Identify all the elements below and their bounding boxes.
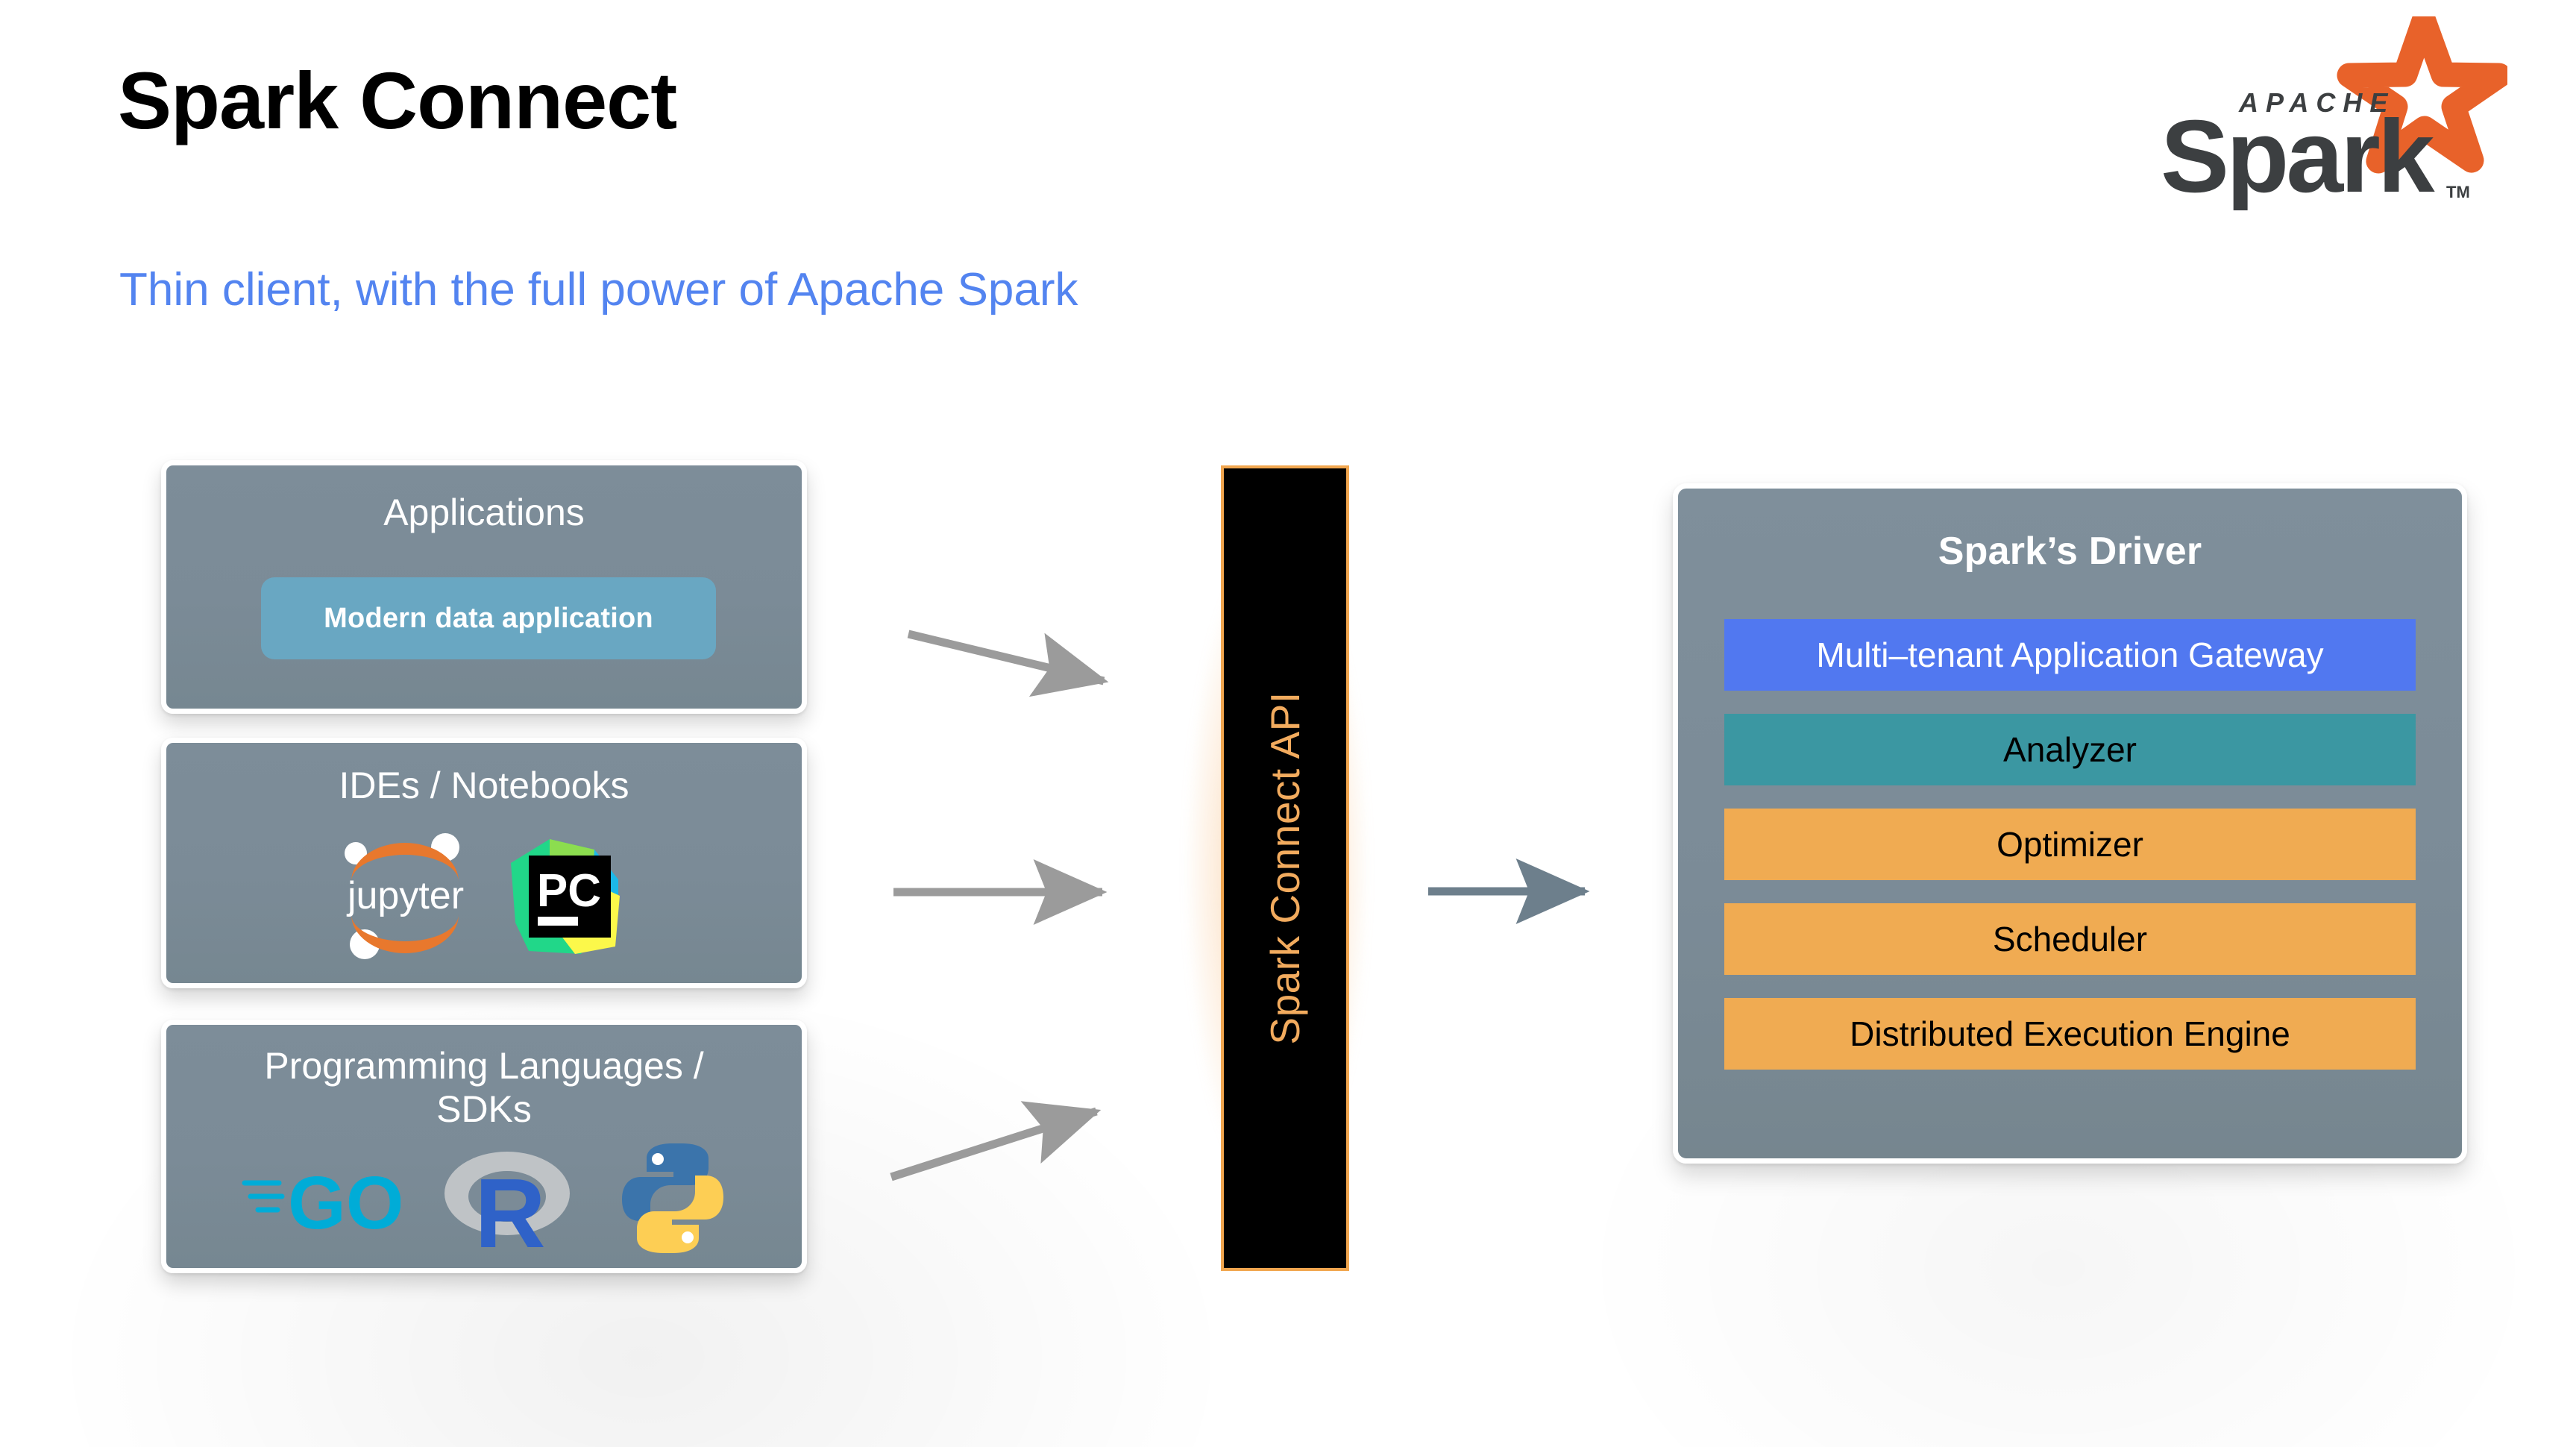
jupyter-logo-icon: jupyter bbox=[335, 831, 477, 961]
card-programming-languages-sdks-title: Programming Languages /SDKs bbox=[166, 1044, 802, 1131]
spark-connect-api-label: Spark Connect API bbox=[1261, 691, 1309, 1044]
driver-layer-list: Multi–tenant Application Gateway Analyze… bbox=[1724, 619, 2416, 1070]
ides-logo-row: jupyter PC bbox=[166, 831, 802, 961]
r-logo-icon: R bbox=[442, 1143, 576, 1255]
spark-connect-api-bar[interactable]: Spark Connect API bbox=[1221, 465, 1349, 1271]
card-programming-languages-sdks[interactable]: Programming Languages /SDKs GO bbox=[161, 1020, 807, 1273]
driver-layer-multi-tenant-application-gateway[interactable]: Multi–tenant Application Gateway bbox=[1724, 619, 2416, 691]
spark-driver-panel[interactable]: Spark’s Driver Multi–tenant Application … bbox=[1673, 483, 2467, 1164]
jupyter-wordmark: jupyter bbox=[346, 874, 464, 917]
driver-layer-label: Distributed Execution Engine bbox=[1850, 1017, 2290, 1051]
arrow-applications-to-api bbox=[908, 634, 1104, 681]
driver-layer-analyzer[interactable]: Analyzer bbox=[1724, 714, 2416, 785]
driver-layer-distributed-execution-engine[interactable]: Distributed Execution Engine bbox=[1724, 998, 2416, 1070]
spark-wordmark: Spark bbox=[2161, 99, 2435, 210]
python-logo-icon bbox=[617, 1140, 729, 1256]
driver-layer-scheduler[interactable]: Scheduler bbox=[1724, 903, 2416, 975]
go-logo-icon: GO bbox=[240, 1158, 400, 1240]
card-applications[interactable]: Applications Modern data application bbox=[161, 460, 807, 714]
apache-spark-logo: APACHE Spark TM bbox=[2134, 16, 2507, 210]
go-wordmark: GO bbox=[288, 1161, 400, 1240]
languages-logo-row: GO R bbox=[166, 1140, 802, 1256]
driver-layer-label: Scheduler bbox=[1993, 922, 2147, 956]
pycharm-pc-label: PC bbox=[537, 865, 601, 917]
card-ides-notebooks[interactable]: IDEs / Notebooks jupyter bbox=[161, 738, 807, 988]
r-letter: R bbox=[474, 1158, 545, 1255]
modern-data-application-chip[interactable]: Modern data application bbox=[261, 577, 716, 659]
spark-driver-title: Spark’s Driver bbox=[1678, 529, 2462, 574]
trademark-mark: TM bbox=[2446, 183, 2470, 201]
card-ides-notebooks-title: IDEs / Notebooks bbox=[166, 764, 802, 807]
page-title: Spark Connect bbox=[118, 58, 676, 142]
page-subtitle: Thin client, with the full power of Apac… bbox=[119, 265, 1078, 316]
driver-layer-label: Optimizer bbox=[1997, 827, 2143, 861]
driver-layer-optimizer[interactable]: Optimizer bbox=[1724, 809, 2416, 880]
slide-root: Spark Connect Thin client, with the full… bbox=[0, 0, 2576, 1447]
card-applications-title: Applications bbox=[166, 491, 802, 534]
driver-layer-label: Analyzer bbox=[2003, 732, 2137, 767]
arrow-languages-to-api bbox=[891, 1111, 1096, 1177]
driver-layer-label: Multi–tenant Application Gateway bbox=[1816, 638, 2323, 672]
pycharm-logo-icon: PC bbox=[506, 833, 633, 960]
